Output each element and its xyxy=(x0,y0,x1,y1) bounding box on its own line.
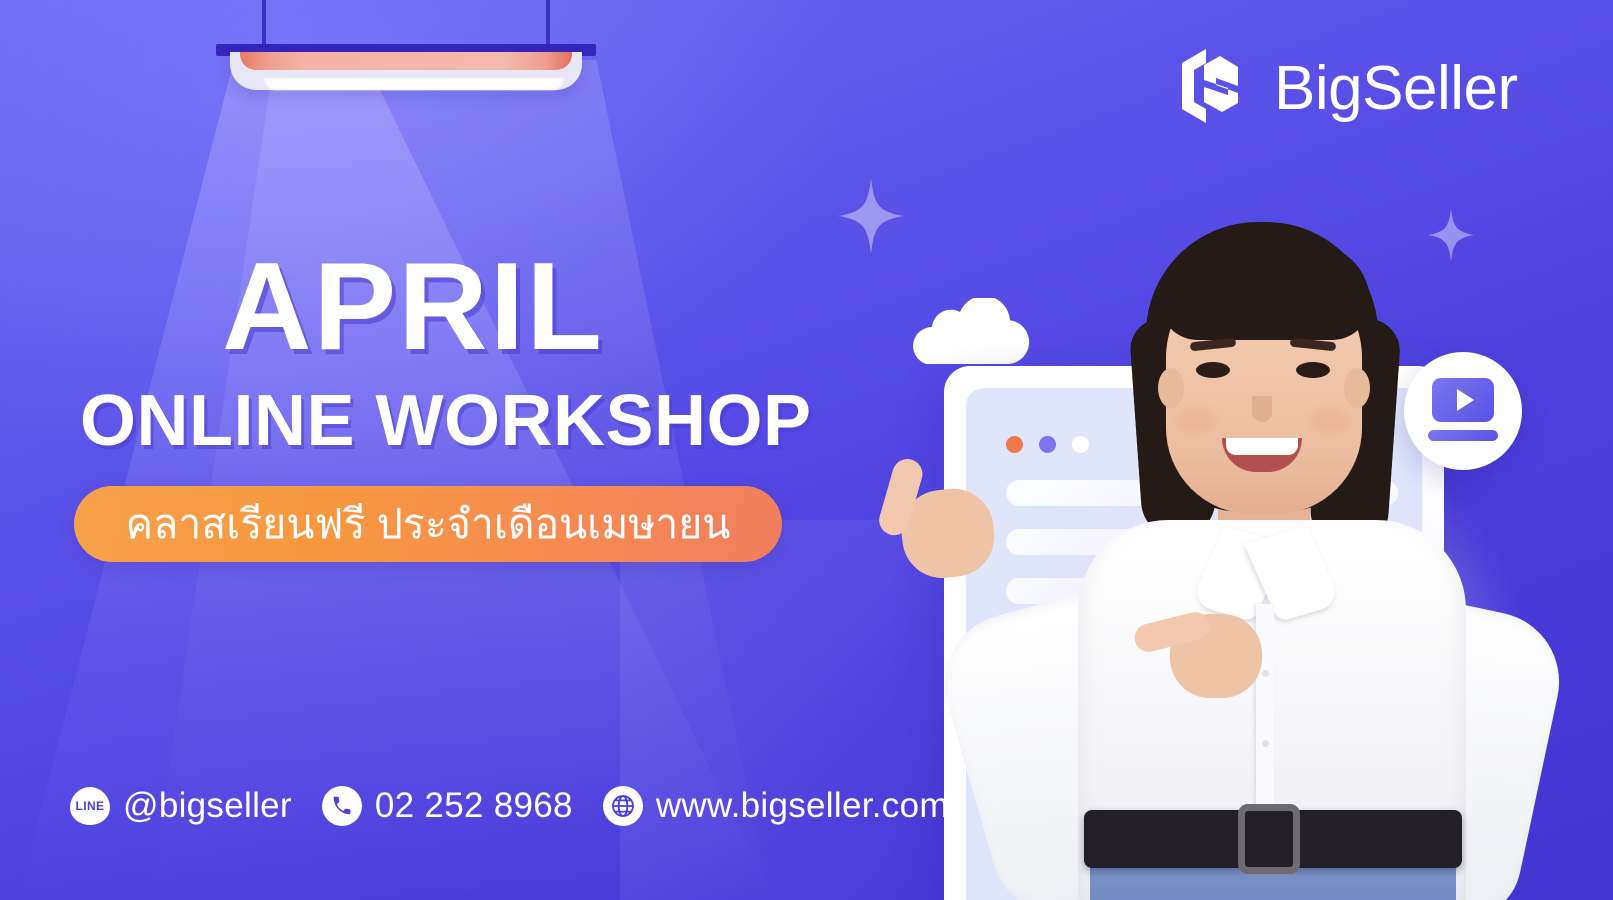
presenter-eye-left xyxy=(1196,362,1230,378)
page-subtitle: ONLINE WORKSHOP xyxy=(74,384,834,460)
lamp-light-glow xyxy=(240,52,572,70)
brand-lockup: BigSeller xyxy=(1176,46,1518,131)
promo-banner: APRIL ONLINE WORKSHOP คลาสเรียนฟรี ประจำ… xyxy=(0,0,1613,900)
contact-bar: LINE @bigseller 02 252 8968 xyxy=(70,786,949,826)
promo-pill: คลาสเรียนฟรี ประจำเดือนเมษายน xyxy=(74,486,782,562)
contact-line-label: @bigseller xyxy=(123,786,292,826)
contact-website[interactable]: www.bigseller.com xyxy=(603,786,949,826)
lamp-cord-left xyxy=(262,0,266,48)
lamp-lip xyxy=(264,78,564,90)
presenter-eye-right xyxy=(1296,362,1330,378)
sparkle-icon xyxy=(838,178,904,254)
presenter-ear-left xyxy=(1158,368,1184,408)
presenter-teeth xyxy=(1226,438,1298,455)
presenter-belt-buckle xyxy=(1238,804,1300,874)
hanging-lamp-icon xyxy=(216,0,596,96)
headline-block: APRIL ONLINE WORKSHOP คลาสเรียนฟรี ประจำ… xyxy=(74,244,834,562)
presenter-cheek-left xyxy=(1176,410,1216,432)
contact-phone-label: 02 252 8968 xyxy=(375,786,573,826)
presenter-shirt-button xyxy=(1262,740,1269,747)
presenter-pointing-hand-left xyxy=(875,444,1006,588)
presenter-cheek-right xyxy=(1310,410,1350,432)
presenter-hair-fringe xyxy=(1160,244,1370,340)
presenter-pointing-hand-right xyxy=(1148,600,1280,704)
phone-icon xyxy=(322,786,362,826)
contact-phone[interactable]: 02 252 8968 xyxy=(322,786,573,826)
lamp-housing xyxy=(230,52,582,90)
contact-line[interactable]: LINE @bigseller xyxy=(70,786,292,826)
presenter-nose xyxy=(1252,396,1272,422)
smiling-woman-pointing-photo xyxy=(960,200,1560,900)
contact-website-label: www.bigseller.com xyxy=(656,786,949,826)
bigseller-hexagon-s-logo xyxy=(1176,46,1252,131)
globe-icon xyxy=(603,786,643,826)
lamp-cord-right xyxy=(546,0,550,48)
page-title: APRIL xyxy=(74,244,834,370)
promo-pill-label: คลาสเรียนฟรี ประจำเดือนเมษายน xyxy=(126,504,731,545)
line-app-icon: LINE xyxy=(70,786,110,826)
presenter-ear-right xyxy=(1344,368,1370,408)
brand-name: BigSeller xyxy=(1274,58,1518,120)
